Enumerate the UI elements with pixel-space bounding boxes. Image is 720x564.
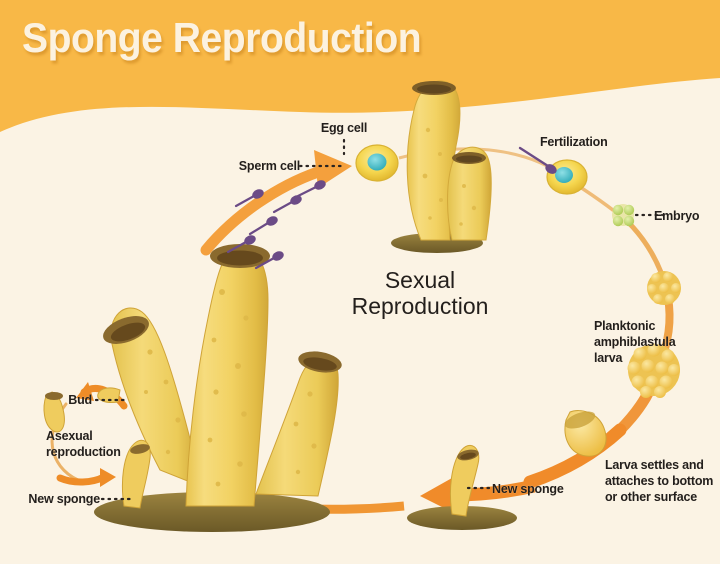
label-new-sponge-left: New sponge <box>6 491 100 507</box>
sponge-osculum-center-inner <box>217 251 263 266</box>
sponge-osculum-tall-inner <box>417 85 451 94</box>
label-sperm-cell: Sperm cell <box>170 158 300 174</box>
egg-cell-nucleus <box>368 154 387 171</box>
embryo-cluster <box>612 204 634 226</box>
label-planktonic-larva: Planktonic amphiblastula larva <box>594 318 684 366</box>
embryo-cell <box>613 205 623 215</box>
label-egg-cell: Egg cell <box>300 120 388 136</box>
embryo-cell <box>613 216 623 226</box>
sponge-reproduction-diagram: Sponge Reproduction Sexual Reproduction … <box>0 0 720 564</box>
egg-cell-group <box>356 145 398 181</box>
page-title: Sponge Reproduction <box>22 14 421 62</box>
label-asexual-reproduction: Asexual reproduction <box>46 428 138 460</box>
sponge-osculum-short-inner <box>456 156 482 163</box>
label-embryo: Embryo <box>654 208 699 224</box>
embryo-cell <box>624 205 634 215</box>
blastula-larva-upper <box>647 271 681 305</box>
label-larva-settles: Larva settles and attaches to bottom or … <box>605 457 717 505</box>
label-fertilization: Fertilization <box>540 134 608 150</box>
embryo-cell <box>624 216 634 226</box>
label-bud: Bud <box>40 392 92 408</box>
fertilized-egg-nucleus <box>555 167 573 183</box>
sexual-reproduction-title: Sexual Reproduction <box>330 268 510 320</box>
label-new-sponge-right: New sponge <box>492 481 564 497</box>
